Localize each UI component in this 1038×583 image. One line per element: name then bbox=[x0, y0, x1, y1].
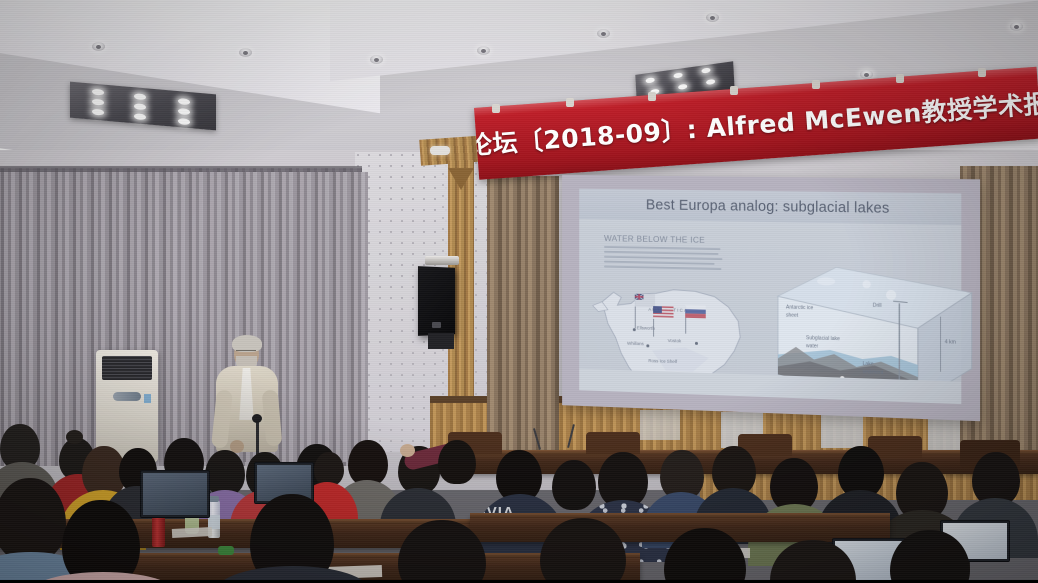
banner-clip bbox=[566, 98, 574, 107]
speaker-glasses bbox=[236, 350, 256, 355]
slide-body: WATER BELOW THE ICE ANTARCTICA bbox=[579, 219, 961, 382]
flag-uk bbox=[635, 294, 655, 307]
slide-title: Best Europa analog: subglacial lakes bbox=[646, 197, 890, 216]
laptop[interactable] bbox=[140, 470, 210, 518]
banner-clip bbox=[896, 74, 904, 83]
flag-usa bbox=[653, 306, 673, 319]
caption-text-line bbox=[604, 265, 721, 270]
chair-back bbox=[586, 432, 640, 454]
block-label-drill: Drill bbox=[873, 303, 882, 311]
map-station-dot bbox=[633, 328, 635, 331]
wall-panel-rect bbox=[821, 414, 863, 448]
audience-head bbox=[314, 452, 344, 486]
desk-edge bbox=[470, 513, 890, 518]
caption-text-line bbox=[604, 260, 715, 265]
audience-head bbox=[552, 460, 596, 510]
banner-clip bbox=[730, 86, 738, 95]
caption-text-line bbox=[604, 245, 720, 250]
wood-column-point bbox=[448, 168, 474, 190]
ceiling-downlight bbox=[370, 55, 383, 64]
wall-panel-rect bbox=[640, 410, 680, 440]
audience-hand bbox=[400, 444, 415, 457]
presentation-slide: Best Europa analog: subglacial lakes WAT… bbox=[579, 189, 961, 404]
item-green-small bbox=[218, 546, 234, 555]
map-station-label: Whillans bbox=[627, 341, 644, 346]
audience-head-foreground bbox=[62, 500, 140, 583]
map-ice-shelf-label: Ross Ice Shelf bbox=[648, 358, 677, 364]
ceiling-downlight bbox=[597, 29, 610, 38]
banner-clip bbox=[812, 80, 820, 89]
audience-head bbox=[438, 440, 476, 484]
projection-screen: Best Europa analog: subglacial lakes WAT… bbox=[562, 175, 980, 421]
banner-clip bbox=[648, 92, 656, 101]
wall-speaker-bracket bbox=[425, 256, 459, 265]
ceiling-downlight bbox=[706, 13, 719, 22]
air-conditioner-badge bbox=[144, 394, 151, 403]
banner-clip bbox=[492, 104, 500, 113]
laptop-screen bbox=[143, 473, 207, 515]
map-station-label: Ellsworth bbox=[637, 325, 655, 330]
air-conditioner-logo bbox=[113, 392, 141, 401]
ceiling-downlight bbox=[860, 70, 873, 79]
map-station-dot bbox=[646, 344, 648, 347]
water-bottle-cap bbox=[209, 496, 219, 502]
audience-head-bun bbox=[66, 430, 83, 444]
block-label-depth: 4 km bbox=[945, 339, 956, 347]
caption-text-line bbox=[604, 255, 722, 260]
led-light-panel-left bbox=[70, 82, 216, 131]
map-station-dot bbox=[695, 342, 697, 345]
flag-russia bbox=[685, 305, 706, 318]
wall-bracket-fixture bbox=[430, 146, 450, 155]
slide-inset-caption: WATER BELOW THE ICE bbox=[604, 233, 726, 270]
air-conditioner-grille bbox=[102, 356, 152, 380]
wall-speaker-mount bbox=[428, 333, 454, 349]
block-label-lake-water: Subglacial lake water bbox=[806, 335, 844, 351]
wall-speaker-logo bbox=[432, 322, 441, 328]
curtain-brown-center bbox=[487, 176, 559, 462]
lecture-hall-photo: 名家论坛〔2018-09〕: Alfred McEwen教授学术报告会 Best… bbox=[0, 0, 1038, 583]
map-station-label: Vostok bbox=[668, 338, 681, 343]
ceiling-downlight bbox=[92, 42, 105, 51]
microphone-head bbox=[252, 414, 262, 423]
ceiling-downlight bbox=[477, 46, 490, 55]
banner-clip bbox=[978, 68, 986, 77]
slide-inset-headline: WATER BELOW THE ICE bbox=[604, 233, 726, 245]
block-label-sediment: Lake sediment bbox=[863, 361, 896, 377]
caption-text-line bbox=[604, 250, 718, 255]
ceiling-downlight bbox=[239, 48, 252, 57]
block-label-ice-sheet: Antarctic ice sheet bbox=[786, 305, 826, 321]
ceiling-downlight bbox=[1010, 22, 1023, 31]
